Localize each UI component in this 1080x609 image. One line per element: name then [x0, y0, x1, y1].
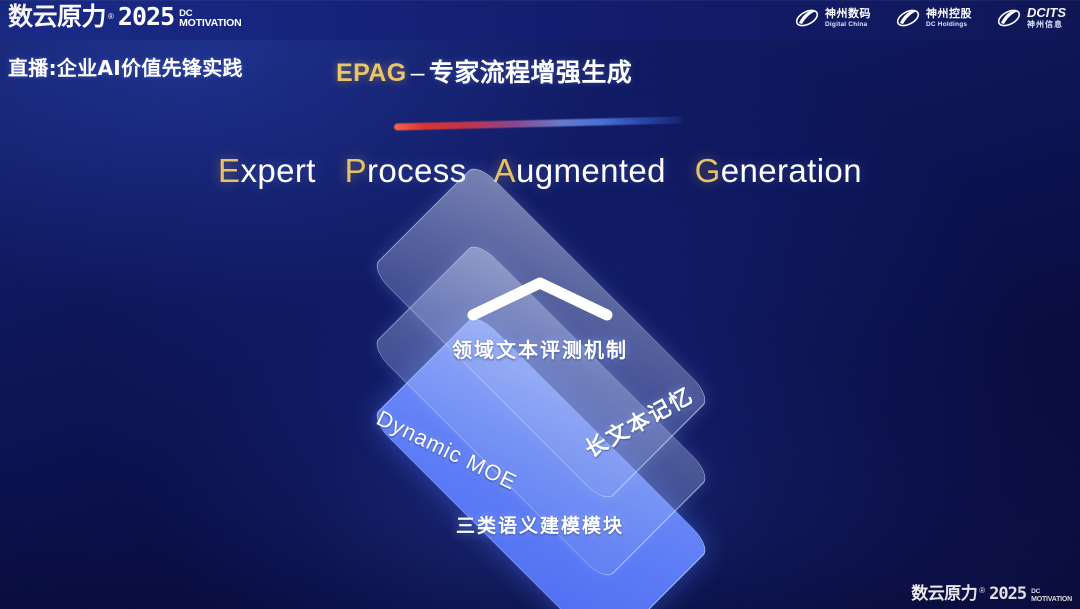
watermark-logo-cn: 数云原力	[911, 586, 977, 603]
subtitle-word-generation: Generation	[695, 152, 862, 189]
dc-swoosh-icon	[895, 6, 921, 30]
watermark-logo-dc: DC	[1031, 589, 1072, 596]
partner-text: 神州数码 Digital China	[825, 8, 871, 28]
brand-logo-dcmotivation: DC MOTIVATION	[179, 9, 241, 29]
brand-logo-registered: ®	[108, 13, 114, 21]
stack-layer-middle-label-right: 长文本记忆	[578, 378, 698, 464]
stack-layer-top-label: 领域文本评测机制	[0, 334, 1080, 363]
chevron-up-icon	[465, 275, 615, 321]
subtitle-word-expert: Expert	[218, 152, 316, 189]
partner-name-cn: 神州控股	[926, 8, 972, 20]
brand-logo: 数云原力 ® 2025 DC MOTIVATION	[8, 4, 242, 29]
slide-title-cn: 专家流程增强生成	[429, 58, 632, 87]
stack-layer-middle-label-left: Dynamic MOE	[372, 405, 521, 495]
brand-logo-cn: 数云原力	[8, 4, 106, 29]
watermark-logo-registered: ®	[979, 587, 985, 595]
slide-canvas: 数云原力 ® 2025 DC MOTIVATION 神州数码 Digital C…	[0, 0, 1080, 609]
watermark-logo-dcmotivation: DC MOTIVATION	[1031, 589, 1072, 603]
partner-logo-digital-china: 神州数码 Digital China	[794, 6, 871, 30]
slide-title-dash: –	[407, 59, 429, 87]
watermark-logo-year: 2025	[989, 586, 1026, 603]
live-stream-label: 直播:企业AI价值先锋实践	[8, 52, 243, 81]
slide-title: EPAG–专家流程增强生成	[336, 53, 632, 89]
subtitle-word-process: Process	[345, 152, 467, 189]
stack-layer-bottom-label: 三类语义建模模块	[0, 511, 1080, 538]
brand-logo-year: 2025	[118, 4, 174, 29]
partner-name-en: 神州信息	[1027, 21, 1066, 30]
watermark-logo: 数云原力 ® 2025 DC MOTIVATION	[911, 586, 1072, 603]
dc-swoosh-icon	[794, 6, 820, 30]
dc-swoosh-icon	[996, 6, 1022, 30]
slide-subtitle: Expert Process Augmented Generation	[0, 152, 1080, 190]
partner-logo-dc-holdings: 神州控股 DC Holdings	[895, 6, 972, 30]
title-divider	[394, 116, 682, 130]
partner-logo-dcits: DCITS 神州信息	[996, 6, 1066, 30]
watermark-logo-motivation: MOTIVATION	[1031, 596, 1072, 603]
partner-logo-row: 神州数码 Digital China 神州控股 DC Holdings DCIT…	[794, 6, 1066, 30]
partner-text: DCITS 神州信息	[1027, 6, 1066, 30]
partner-name-cn: 神州数码	[825, 8, 871, 20]
partner-text: 神州控股 DC Holdings	[926, 8, 972, 28]
slide-title-acronym: EPAG	[336, 59, 407, 87]
subtitle-word-augmented: Augmented	[494, 152, 666, 189]
partner-name-cn: DCITS	[1027, 6, 1066, 21]
brand-logo-motivation: MOTIVATION	[179, 18, 241, 29]
partner-name-en: DC Holdings	[926, 21, 972, 28]
partner-name-en: Digital China	[825, 21, 871, 28]
